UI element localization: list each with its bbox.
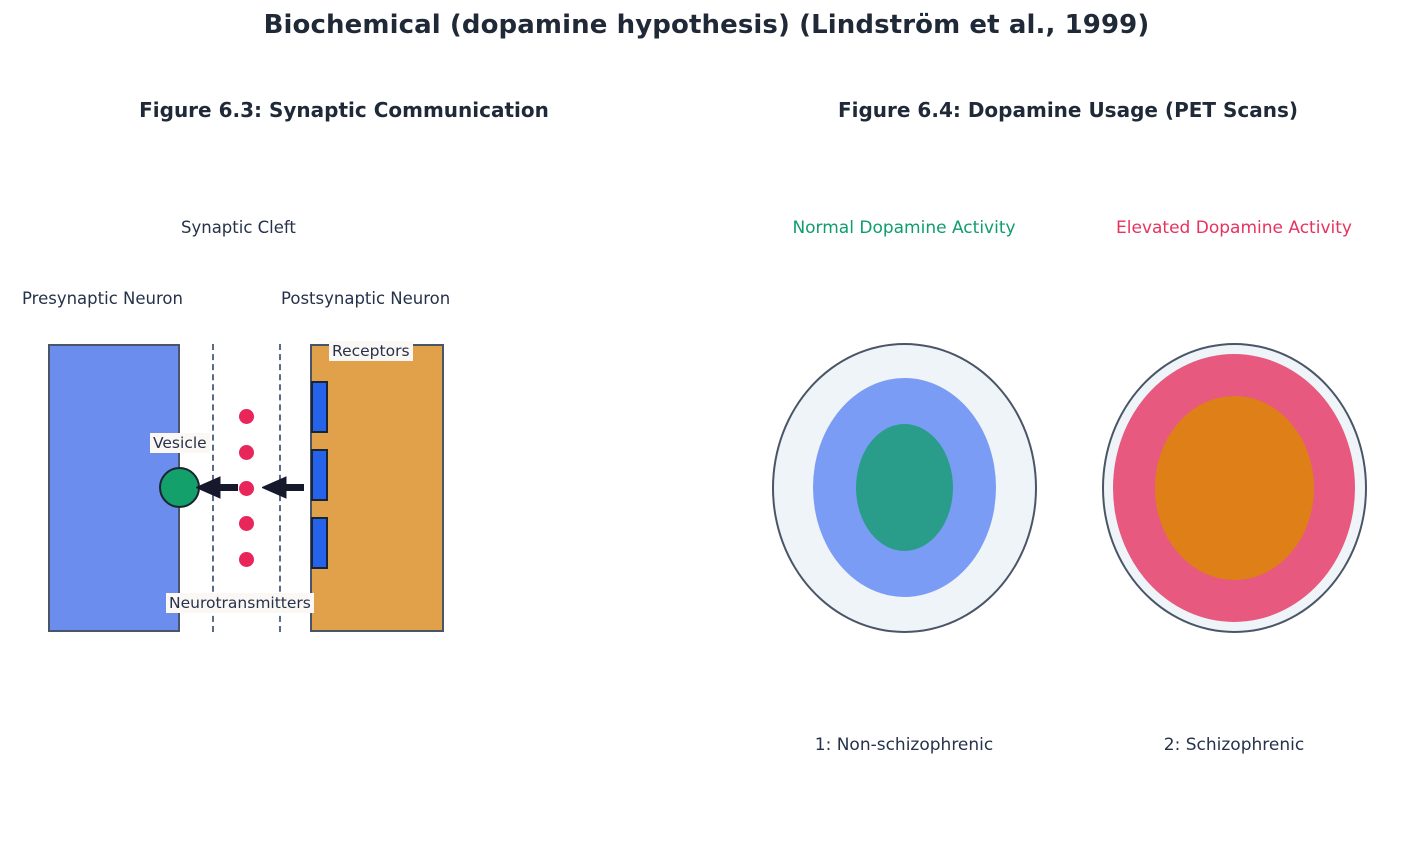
neurotransmitters-label: Neurotransmitters	[166, 593, 314, 613]
scan-2-caption: 2: Schizophrenic	[1034, 735, 1413, 755]
pet-scan-diagram: Normal Dopamine Activity 1: Non-schizoph…	[700, 0, 1413, 859]
neurotransmitter-dot	[239, 552, 254, 567]
postsynaptic-neuron-label: Postsynaptic Neuron	[281, 289, 450, 308]
receptor-icon	[311, 449, 328, 501]
receptors-label: Receptors	[329, 341, 413, 361]
binding-arrow-icon	[262, 473, 304, 503]
scan-2-heading: Elevated Dopamine Activity	[1034, 218, 1413, 238]
neurotransmitter-dot	[239, 516, 254, 531]
synaptic-cleft-label: Synaptic Cleft	[181, 218, 296, 237]
pet-scan-1-core	[856, 424, 953, 551]
pet-scan-2-core	[1155, 396, 1314, 580]
neurotransmitter-dot	[239, 481, 254, 496]
neurotransmitter-dot	[239, 409, 254, 424]
postsynaptic-neuron-body	[310, 344, 444, 632]
presynaptic-neuron-label: Presynaptic Neuron	[22, 289, 183, 308]
synaptic-diagram: Synaptic Cleft Presynaptic Neuron Postsy…	[0, 0, 700, 859]
receptor-icon	[311, 381, 328, 433]
vesicle-icon	[159, 467, 200, 508]
vesicle-label: Vesicle	[150, 433, 210, 453]
neurotransmitter-dot	[239, 445, 254, 460]
release-arrow-icon	[196, 473, 238, 503]
receptor-icon	[311, 517, 328, 569]
